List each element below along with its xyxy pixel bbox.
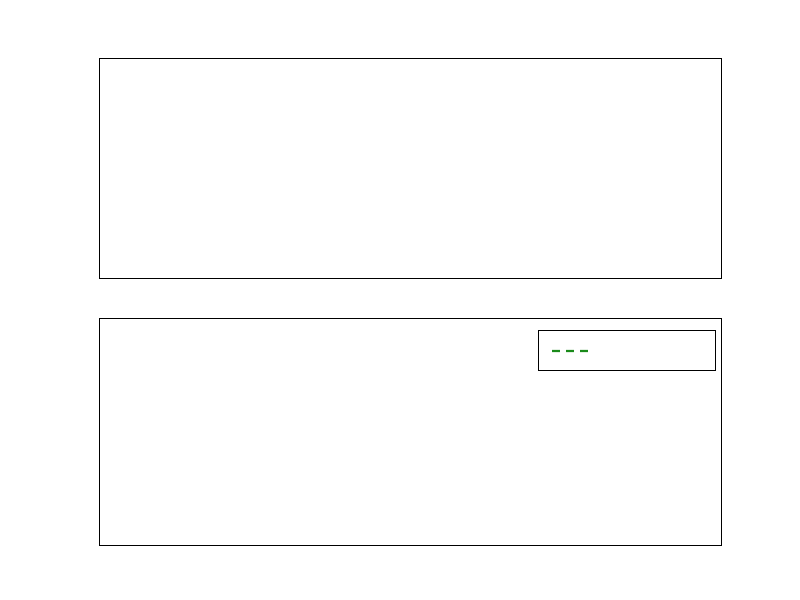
top-panel-plot-area [99, 58, 722, 279]
differential-histogram [100, 59, 721, 278]
legend[interactable] [538, 330, 716, 371]
figure-canvas [0, 0, 800, 600]
legend-dash-swatch [551, 345, 589, 357]
